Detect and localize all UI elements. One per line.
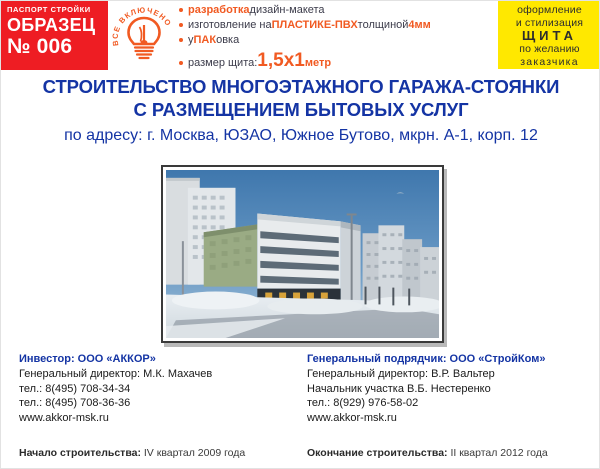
construction-photo-frame <box>161 165 444 343</box>
contractor-site-manager: Начальник участка В.Б. Нестеренко <box>307 382 597 397</box>
bullet-3-rest: овка <box>216 33 239 47</box>
top-strip: ПАСПОРТ СТРОЙКИ ОБРАЗЕЦ № 006 ВСЕ ВКЛЮЧЕ… <box>1 1 600 70</box>
svg-text:ВСЕ ВКЛЮЧЕНО: ВСЕ ВКЛЮЧЕНО <box>111 6 174 47</box>
banner-sample-word: ОБРАЗЕЦ <box>7 15 108 36</box>
contractor-director: Генеральный директор: В.Р. Вальтер <box>307 367 597 382</box>
end-date-label: Окончание строительства: <box>307 447 448 459</box>
yellow-line-5: заказчика <box>502 56 597 69</box>
project-address: по адресу: г. Москва, ЮЗАО, Южное Бутово… <box>1 125 600 147</box>
investor-phone-2: тел.: 8(495) 708-36-36 <box>19 396 309 411</box>
project-title-block: СТРОИТЕЛЬСТВО МНОГОЭТАЖНОГО ГАРАЖА-СТОЯН… <box>1 75 600 147</box>
contacts-section: Инвестор: ООО «АККОР» Генеральный директ… <box>1 352 600 424</box>
page-title-line-1: СТРОИТЕЛЬСТВО МНОГОЭТАЖНОГО ГАРАЖА-СТОЯН… <box>1 75 600 98</box>
investor-block: Инвестор: ООО «АККОР» Генеральный директ… <box>19 352 309 425</box>
banner-sample-number: № 006 <box>7 35 108 59</box>
styling-note-box: оформление и стилизация ЩИТА по желанию … <box>498 1 600 69</box>
yellow-line-4: по желанию <box>502 43 597 56</box>
bullet-dot-icon <box>179 8 183 12</box>
bullet-item: размер щита: 1,5x1 метр <box>179 48 497 70</box>
end-date-value: II квартал 2012 года <box>448 447 548 459</box>
contractor-heading: Генеральный подрядчик: ООО «СтройКом» <box>307 352 597 367</box>
bullet-1-strong: разработка <box>188 3 250 17</box>
bullet-2-mid: толщиной <box>358 18 409 32</box>
investor-phone-1: тел.: 8(495) 708-34-34 <box>19 382 309 397</box>
contractor-phone: тел.: 8(929) 976-58-02 <box>307 396 597 411</box>
construction-dates: Начало строительства: IV квартал 2009 го… <box>1 443 600 463</box>
bullet-dot-icon <box>179 61 183 65</box>
bullet-2-strong2: 4мм <box>408 18 430 32</box>
yellow-line-1: оформление <box>502 4 597 17</box>
yellow-line-3: ЩИТА <box>502 29 597 43</box>
start-date-label: Начало строительства: <box>19 447 141 459</box>
feature-bullets: разработка дизайн-макета изготовление на… <box>179 3 497 70</box>
bullet-item: уПАКовка <box>179 33 497 48</box>
bullet-dot-icon <box>179 23 183 27</box>
bullet-dot-icon <box>179 38 183 42</box>
bullet-2-strong: ПЛАСТИКЕ-ПВХ <box>272 18 358 32</box>
bullet-4-unit: метр <box>305 56 331 70</box>
contractor-block: Генеральный подрядчик: ООО «СтройКом» Ге… <box>307 352 597 425</box>
start-date: Начало строительства: IV квартал 2009 го… <box>19 443 245 461</box>
investor-heading: Инвестор: ООО «АККОР» <box>19 352 309 367</box>
bullet-2-pre: изготовление на <box>188 18 272 32</box>
investor-website: www.akkor-msk.ru <box>19 411 309 426</box>
construction-passport-board: ПАСПОРТ СТРОЙКИ ОБРАЗЕЦ № 006 ВСЕ ВКЛЮЧЕ… <box>0 0 600 469</box>
bullet-item: изготовление на ПЛАСТИКЕ-ПВХ толщиной 4м… <box>179 18 497 33</box>
bullet-4-pre: размер щита: <box>188 56 257 70</box>
banner-caption: ПАСПОРТ СТРОЙКИ <box>7 5 108 15</box>
start-date-value: IV квартал 2009 года <box>141 447 245 459</box>
bullet-3-strong: ПАК <box>194 33 217 47</box>
passport-banner: ПАСПОРТ СТРОЙКИ ОБРАЗЕЦ № 006 <box>1 1 108 70</box>
construction-photo <box>166 170 439 338</box>
bullet-1-rest: дизайн-макета <box>250 3 325 17</box>
end-date: Окончание строительства: II квартал 2012… <box>307 443 548 461</box>
lightbulb-logo: ВСЕ ВКЛЮЧЕНО <box>109 1 179 70</box>
investor-director: Генеральный директор: М.К. Махачев <box>19 367 309 382</box>
page-title-line-2: С РАЗМЕЩЕНИЕМ БЫТОВЫХ УСЛУГ <box>1 98 600 121</box>
contractor-website: www.akkor-msk.ru <box>307 411 597 426</box>
bullet-4-size: 1,5x1 <box>257 51 305 70</box>
bullet-item: разработка дизайн-макета <box>179 3 497 18</box>
